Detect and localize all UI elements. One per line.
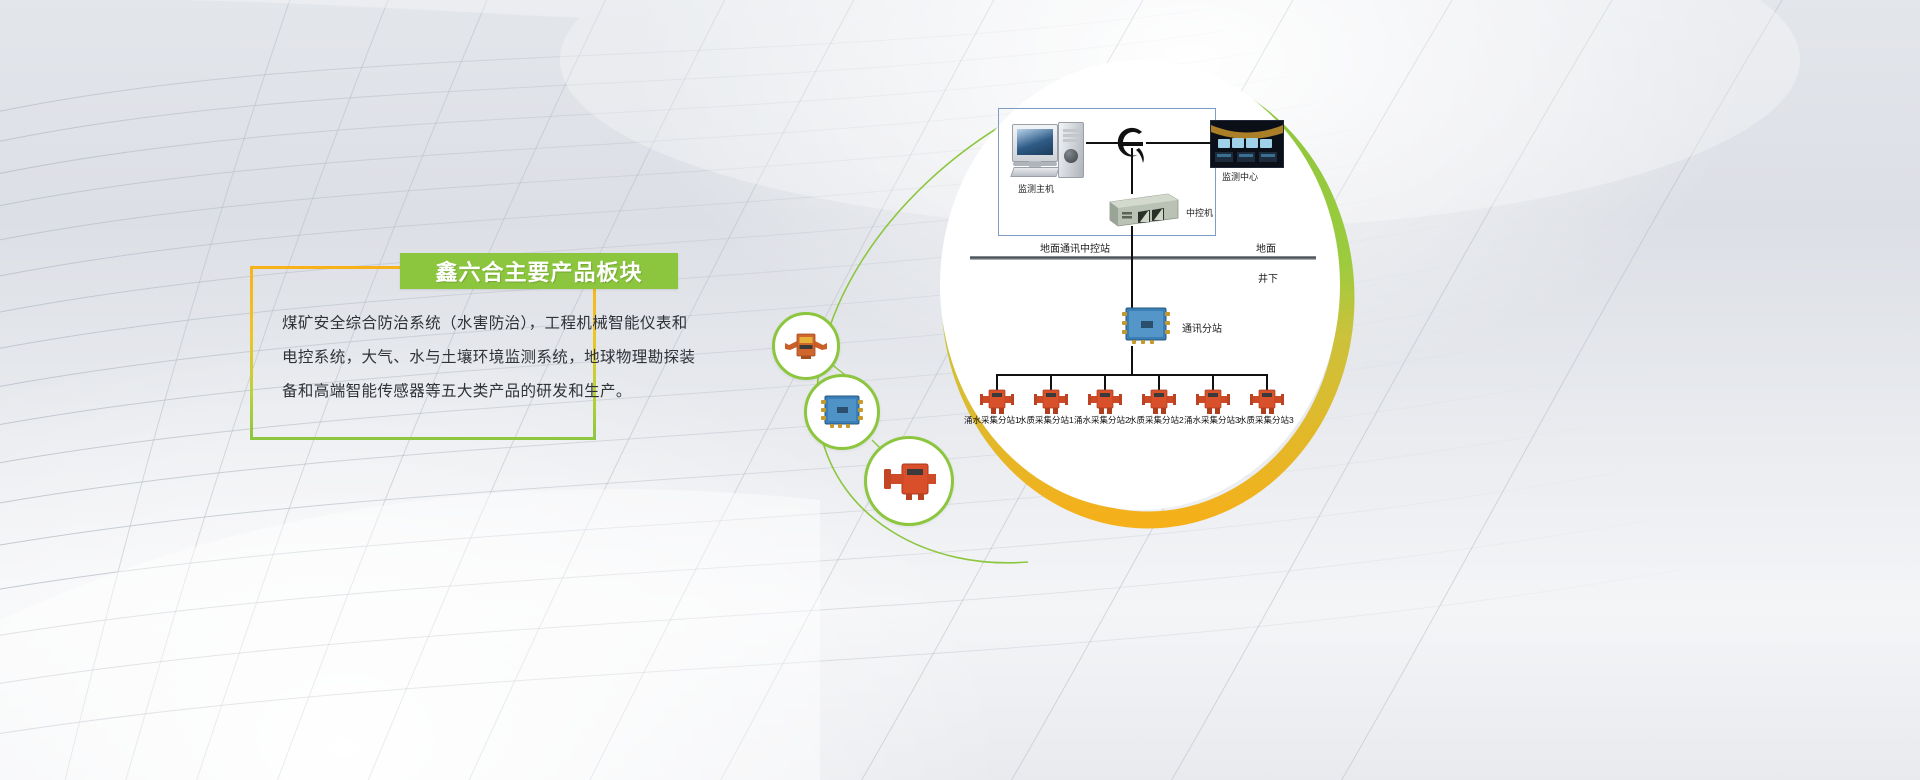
- description-line-2: 电控系统，大气、水与土壤环境监测系统，地球物理勘探装: [282, 341, 702, 375]
- description-line-1: 煤矿安全综合防治系统（水害防治），工程机械智能仪表和: [282, 307, 702, 341]
- connector-swoosh: [760, 0, 1920, 780]
- label-central-control: 中控机: [1186, 206, 1213, 219]
- keyboard-icon: [1010, 167, 1060, 177]
- bubble-explosion-proof-starter[interactable]: [772, 312, 840, 380]
- label-monitor-center: 监测中心: [1222, 170, 1258, 183]
- label-surface-zone: 地面: [1256, 240, 1276, 255]
- label-comm-substation: 通讯分站: [1182, 320, 1222, 335]
- station-label-5: 涌水采集分站3: [1184, 414, 1240, 426]
- page-title: 鑫六合主要产品板块: [435, 255, 642, 287]
- link-network-to-central-control: [1131, 148, 1133, 194]
- central-control-graphic: [1106, 192, 1180, 228]
- station-label-4: 水质采集分站2: [1128, 414, 1184, 426]
- link-network-to-center: [1146, 142, 1212, 144]
- station-label-1: 涌水采集分站1: [964, 414, 1020, 426]
- right-diagram-panel: 监测主机: [760, 0, 1920, 780]
- explosion-proof-starter-icon: [783, 331, 829, 361]
- pc-tower-icon: [1058, 122, 1084, 178]
- comm-substation-icon: [1118, 304, 1174, 348]
- section-title-bar: 鑫六合主要产品板块: [400, 253, 678, 289]
- description-text: 煤矿安全综合防治系统（水害防治），工程机械智能仪表和 电控系统，大气、水与土壤环…: [282, 307, 702, 409]
- video-wall-icon: [1211, 121, 1283, 167]
- station-label-2: 水质采集分站1: [1018, 414, 1074, 426]
- central-control-unit-icon: [1106, 192, 1180, 228]
- system-topology-diagram: 监测主机: [970, 108, 1320, 478]
- label-underground-zone: 井下: [1258, 270, 1278, 285]
- link-substation-to-bus: [1131, 346, 1133, 374]
- crt-monitor-icon: [1012, 124, 1058, 162]
- link-central-control-to-substation: [1131, 226, 1133, 308]
- station-label-3: 涌水采集分站2: [1074, 414, 1130, 426]
- bubble-red-flow-sensor[interactable]: [864, 436, 954, 526]
- station-label-6: 水质采集分站3: [1238, 414, 1294, 426]
- label-monitor-host: 监测主机: [1018, 182, 1054, 195]
- monitor-base: [1013, 162, 1057, 166]
- station-bus-line: [996, 374, 1268, 376]
- red-flow-sensor-icon: [878, 458, 940, 504]
- bubble-blue-junction-box[interactable]: [804, 374, 880, 450]
- monitor-host-graphic: [1012, 122, 1084, 178]
- blue-junction-box-icon: [816, 391, 868, 433]
- ground-level-line: [970, 256, 1316, 260]
- monitoring-center-graphic: [1210, 120, 1284, 168]
- label-ground-station: 地面通讯中控站: [1040, 240, 1110, 255]
- description-line-3: 备和高端智能传感器等五大类产品的研发和生产。: [282, 375, 702, 409]
- comm-substation-graphic: [1118, 304, 1174, 348]
- link-host-to-network: [1086, 142, 1130, 144]
- left-content-panel: 鑫六合主要产品板块 煤矿安全综合防治系统（水害防治），工程机械智能仪表和 电控系…: [0, 0, 820, 780]
